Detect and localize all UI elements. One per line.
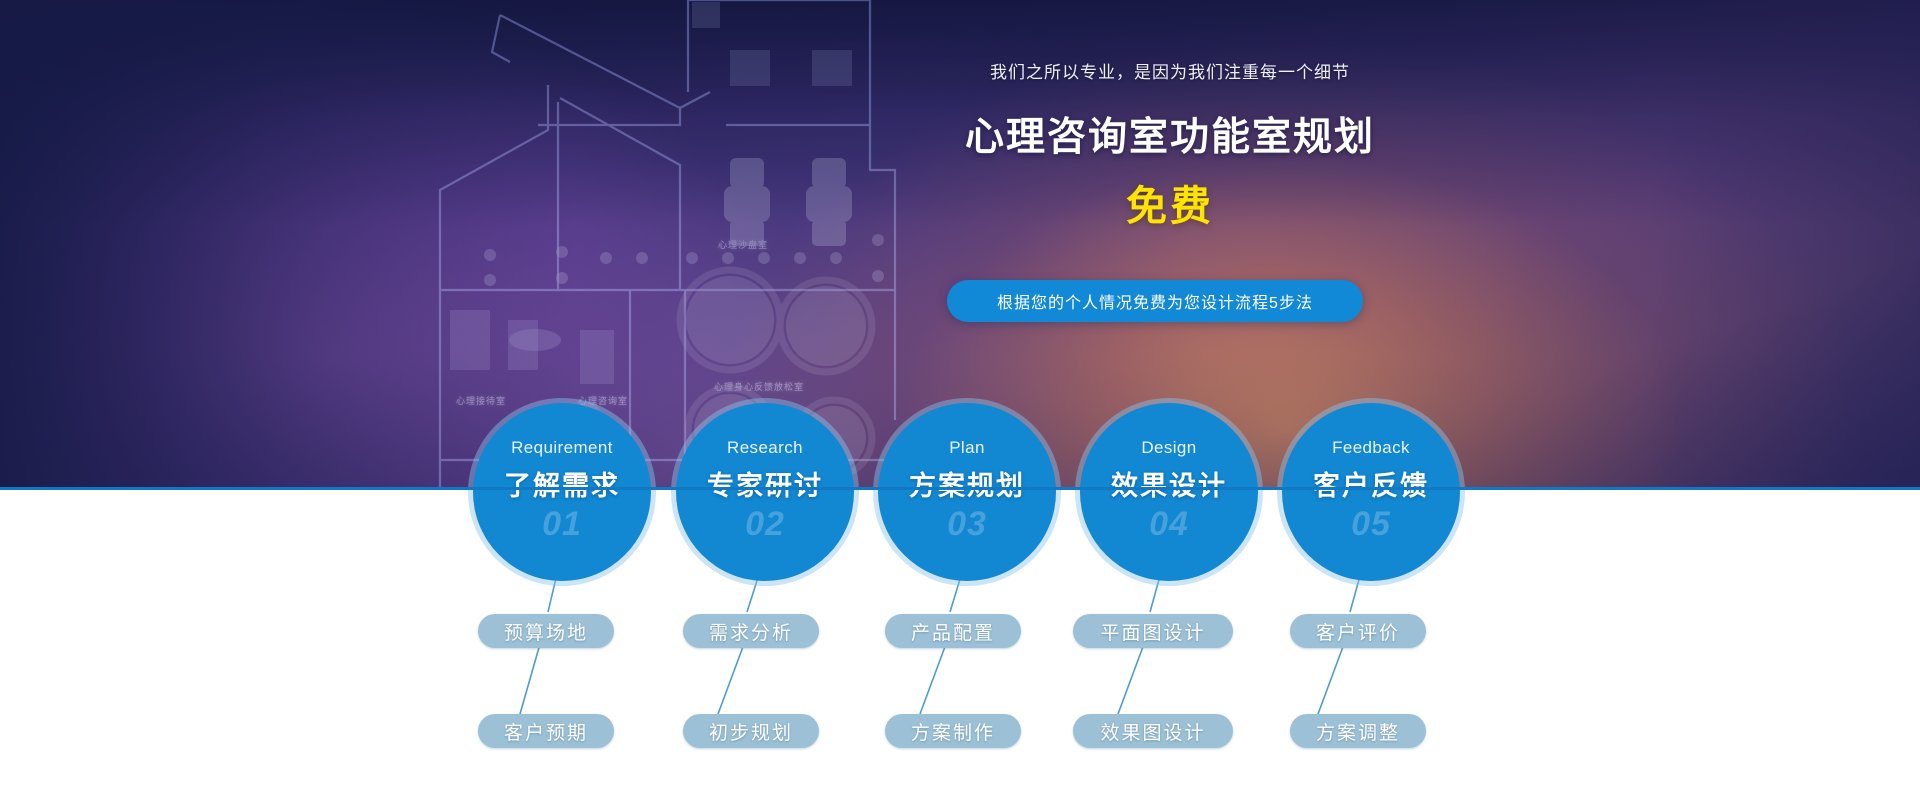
step-circle-4[interactable]: Design 效果设计 04 xyxy=(1080,403,1258,581)
step-tag-5-2[interactable]: 方案调整 xyxy=(1290,714,1426,748)
floorplan-label-1: 心理身心反馈放松室 xyxy=(714,380,804,393)
step-en-2: Research xyxy=(727,438,803,458)
floorplan-label-3: 心理咨询室 xyxy=(578,394,628,407)
hero-divider-rule xyxy=(0,487,1920,490)
step-circle-1[interactable]: Requirement 了解需求 01 xyxy=(473,403,651,581)
hero-copy: 我们之所以专业，是因为我们注重每一个细节 心理咨询室功能室规划 免费 xyxy=(940,62,1400,232)
step-tag-3-2[interactable]: 方案制作 xyxy=(885,714,1021,748)
floorplan-watermark: 心理沙盘室 心理身心反馈放松室 心理接待室 心理咨询室 心理宣泄室 心理团体活动… xyxy=(430,0,930,490)
step-tag-5-1[interactable]: 客户评价 xyxy=(1290,614,1426,648)
step-num-3: 03 xyxy=(947,505,987,544)
step-en-4: Design xyxy=(1141,438,1196,458)
step-en-3: Plan xyxy=(949,438,985,458)
step-tag-4-1[interactable]: 平面图设计 xyxy=(1073,614,1233,648)
banner-stage: 心理沙盘室 心理身心反馈放松室 心理接待室 心理咨询室 心理宣泄室 心理团体活动… xyxy=(0,0,1920,810)
hero-subtitle: 我们之所以专业，是因为我们注重每一个细节 xyxy=(940,62,1400,84)
cta-button[interactable]: 根据您的个人情况免费为您设计流程5步法 xyxy=(947,280,1363,322)
floorplan-label-2: 心理接待室 xyxy=(456,394,506,407)
step-cn-4: 效果设计 xyxy=(1111,464,1227,503)
step-cn-1: 了解需求 xyxy=(504,464,620,503)
step-circle-2[interactable]: Research 专家研讨 02 xyxy=(676,403,854,581)
step-tag-2-1[interactable]: 需求分析 xyxy=(683,614,819,648)
step-num-5: 05 xyxy=(1351,505,1391,544)
step-cn-2: 专家研讨 xyxy=(707,464,823,503)
hero-title: 心理咨询室功能室规划 xyxy=(940,106,1400,162)
step-en-1: Requirement xyxy=(511,438,613,458)
step-num-1: 01 xyxy=(542,505,582,544)
step-num-2: 02 xyxy=(745,505,785,544)
step-tag-2-2[interactable]: 初步规划 xyxy=(683,714,819,748)
step-circle-5[interactable]: Feedback 客户反馈 05 xyxy=(1282,403,1460,581)
step-en-5: Feedback xyxy=(1332,438,1410,458)
step-tag-3-1[interactable]: 产品配置 xyxy=(885,614,1021,648)
step-tag-1-1[interactable]: 预算场地 xyxy=(478,614,614,648)
step-num-4: 04 xyxy=(1149,505,1189,544)
floorplan-label-0: 心理沙盘室 xyxy=(718,238,768,251)
step-tag-4-2[interactable]: 效果图设计 xyxy=(1073,714,1233,748)
step-cn-5: 客户反馈 xyxy=(1313,464,1429,503)
hero-highlight-free: 免费 xyxy=(940,172,1400,232)
step-cn-3: 方案规划 xyxy=(909,464,1025,503)
step-circle-3[interactable]: Plan 方案规划 03 xyxy=(878,403,1056,581)
step-tag-1-2[interactable]: 客户预期 xyxy=(478,714,614,748)
